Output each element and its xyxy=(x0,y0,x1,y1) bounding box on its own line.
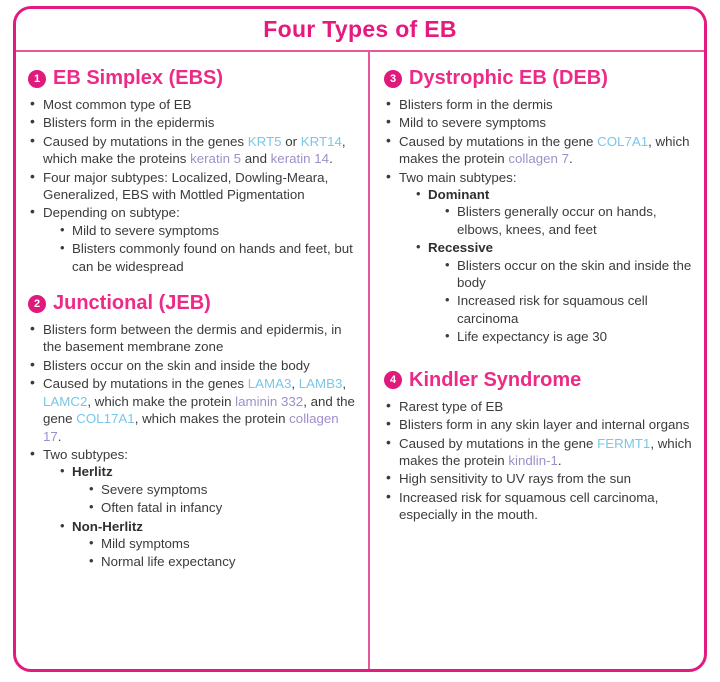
infographic-poster: Four Types of EB 1 EB Simplex (EBS) Most… xyxy=(13,6,707,672)
list-item: Increased risk for squamous cell carcino… xyxy=(384,489,692,524)
list-item: Blisters occur on the skin and inside th… xyxy=(443,257,692,292)
sub-sub-bullet-list: Mild symptoms Normal life expectancy xyxy=(87,535,356,571)
section-title-dystrophic: Dystrophic EB (DEB) xyxy=(409,68,608,89)
sub-bullet-list: Herlitz Severe symptoms Often fatal in i… xyxy=(58,463,356,570)
list-item: High sensitivity to UV rays from the sun xyxy=(384,470,692,487)
protein-name: keratin 14 xyxy=(271,151,329,166)
list-item: Herlitz Severe symptoms Often fatal in i… xyxy=(58,463,356,516)
list-item: Dominant Blisters generally occur on han… xyxy=(414,186,692,238)
sub-sub-bullet-list: Severe symptoms Often fatal in infancy xyxy=(87,481,356,517)
list-item: Mild symptoms xyxy=(87,535,356,552)
bullet-list-dystrophic: Blisters form in the dermis Mild to seve… xyxy=(384,96,692,346)
list-item: Caused by mutations in the gene COL7A1, … xyxy=(384,133,692,168)
list-item: Caused by mutations in the genes KRT5 or… xyxy=(28,133,356,168)
section-header-eb-simplex: 1 EB Simplex (EBS) xyxy=(28,68,356,89)
section-title-kindler: Kindler Syndrome xyxy=(409,370,581,391)
list-item: Blisters form in the dermis xyxy=(384,96,692,113)
text-fragment: . xyxy=(58,429,62,444)
subtype-label: Non-Herlitz xyxy=(72,519,143,534)
gene-name: COL7A1 xyxy=(597,134,648,149)
subtype-label: Herlitz xyxy=(72,464,113,479)
subtype-label: Dominant xyxy=(428,187,489,202)
list-item: Increased risk for squamous cell carcino… xyxy=(443,292,692,327)
poster-title-bar: Four Types of EB xyxy=(16,9,704,52)
section-header-kindler: 4 Kindler Syndrome xyxy=(384,370,692,391)
text-fragment: and xyxy=(241,151,271,166)
bullet-list-eb-simplex: Most common type of EB Blisters form in … xyxy=(28,96,356,275)
list-item: Two main subtypes: Dominant Blisters gen… xyxy=(384,169,692,346)
section-header-junctional: 2 Junctional (JEB) xyxy=(28,293,356,314)
list-item: Mild to severe symptoms xyxy=(384,114,692,131)
bullet-list-kindler: Rarest type of EB Blisters form in any s… xyxy=(384,398,692,524)
section-dystrophic: 3 Dystrophic EB (DEB) Blisters form in t… xyxy=(384,68,692,346)
list-item: Rarest type of EB xyxy=(384,398,692,415)
list-item: Blisters occur on the skin and inside th… xyxy=(28,357,356,374)
list-item: Mild to severe symptoms xyxy=(58,222,356,239)
text-fragment: Caused by mutations in the genes xyxy=(43,134,248,149)
page-title: Four Types of EB xyxy=(263,18,457,41)
right-column: 3 Dystrophic EB (DEB) Blisters form in t… xyxy=(370,52,704,672)
text-fragment: . xyxy=(329,151,333,166)
number-badge-icon: 1 xyxy=(28,70,46,88)
list-item: Caused by mutations in the genes LAMA3, … xyxy=(28,375,356,445)
text-fragment: , which makes the protein xyxy=(135,411,289,426)
number-badge-icon: 2 xyxy=(28,295,46,313)
list-item: Normal life expectancy xyxy=(87,553,356,570)
gene-name: LAMA3 xyxy=(248,376,292,391)
text-fragment: or xyxy=(282,134,301,149)
list-item: Severe symptoms xyxy=(87,481,356,498)
text-fragment: Caused by mutations in the genes xyxy=(43,376,248,391)
gene-name: LAMC2 xyxy=(43,394,87,409)
section-eb-simplex: 1 EB Simplex (EBS) Most common type of E… xyxy=(28,68,356,275)
poster-columns: 1 EB Simplex (EBS) Most common type of E… xyxy=(16,52,704,672)
list-item: Often fatal in infancy xyxy=(87,499,356,516)
list-item: Blisters form between the dermis and epi… xyxy=(28,321,356,356)
list-item: Two subtypes: Herlitz Severe symptoms Of… xyxy=(28,446,356,571)
text-fragment: . xyxy=(558,453,562,468)
gene-name: KRT5 xyxy=(248,134,282,149)
text-fragment: Two main subtypes: xyxy=(399,170,517,185)
text-fragment: Depending on subtype: xyxy=(43,205,180,220)
section-title-junctional: Junctional (JEB) xyxy=(53,293,211,314)
text-fragment: . xyxy=(569,151,573,166)
protein-name: kindlin-1 xyxy=(508,453,558,468)
section-header-dystrophic: 3 Dystrophic EB (DEB) xyxy=(384,68,692,89)
text-fragment: Caused by mutations in the gene xyxy=(399,436,597,451)
text-fragment: Caused by mutations in the gene xyxy=(399,134,597,149)
sub-bullet-list: Dominant Blisters generally occur on han… xyxy=(414,186,692,346)
text-fragment: , which make the protein xyxy=(87,394,235,409)
gene-name: COL17A1 xyxy=(76,411,134,426)
list-item: Depending on subtype: Mild to severe sym… xyxy=(28,204,356,275)
list-item: Blisters form in any skin layer and inte… xyxy=(384,416,692,433)
list-item: Four major subtypes: Localized, Dowling-… xyxy=(28,169,356,204)
list-item: Blisters form in the epidermis xyxy=(28,114,356,131)
section-junctional: 2 Junctional (JEB) Blisters form between… xyxy=(28,293,356,571)
text-fragment: , xyxy=(291,376,298,391)
sub-sub-bullet-list: Blisters occur on the skin and inside th… xyxy=(443,257,692,346)
number-badge-icon: 3 xyxy=(384,70,402,88)
sub-bullet-list: Mild to severe symptoms Blisters commonl… xyxy=(58,222,356,275)
list-item: Blisters generally occur on hands, elbow… xyxy=(443,203,692,238)
text-fragment: Two subtypes: xyxy=(43,447,128,462)
gene-name: FERMT1 xyxy=(597,436,650,451)
protein-name: keratin 5 xyxy=(190,151,241,166)
number-badge-icon: 4 xyxy=(384,371,402,389)
list-item: Blisters commonly found on hands and fee… xyxy=(58,240,356,275)
protein-name: laminin 332 xyxy=(235,394,303,409)
list-item: Most common type of EB xyxy=(28,96,356,113)
gene-name: LAMB3 xyxy=(299,376,343,391)
list-item: Non-Herlitz Mild symptoms Normal life ex… xyxy=(58,518,356,571)
sub-sub-bullet-list: Blisters generally occur on hands, elbow… xyxy=(443,203,692,238)
spacer xyxy=(384,348,692,364)
protein-name: collagen 7 xyxy=(508,151,569,166)
section-kindler: 4 Kindler Syndrome Rarest type of EB Bli… xyxy=(384,370,692,524)
bullet-list-junctional: Blisters form between the dermis and epi… xyxy=(28,321,356,571)
left-column: 1 EB Simplex (EBS) Most common type of E… xyxy=(16,52,370,672)
section-title-eb-simplex: EB Simplex (EBS) xyxy=(53,68,223,89)
text-fragment: , xyxy=(342,376,346,391)
gene-name: KRT14 xyxy=(301,134,342,149)
list-item: Caused by mutations in the gene FERMT1, … xyxy=(384,435,692,470)
subtype-label: Recessive xyxy=(428,240,493,255)
spacer xyxy=(28,277,356,287)
list-item: Recessive Blisters occur on the skin and… xyxy=(414,239,692,345)
list-item: Life expectancy is age 30 xyxy=(443,328,692,345)
